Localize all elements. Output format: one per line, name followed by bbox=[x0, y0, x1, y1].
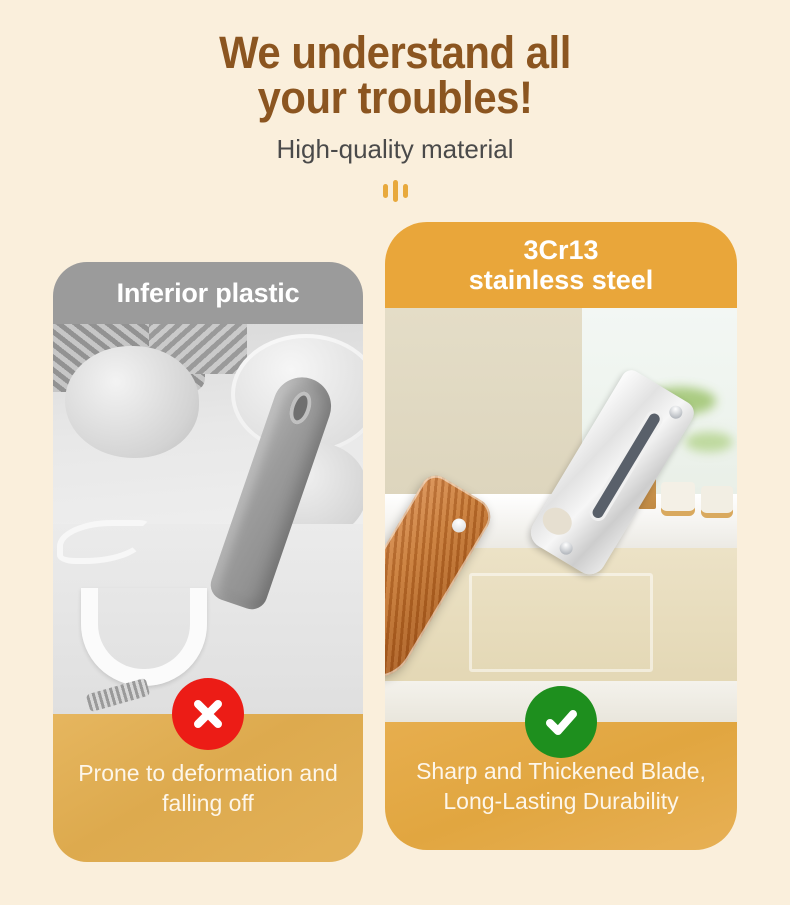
divider-bar-right bbox=[403, 184, 408, 198]
page-subtitle: High-quality material bbox=[0, 134, 790, 164]
stainless-card-caption: Sharp and Thickened Blade, Long-Lasting … bbox=[385, 756, 737, 816]
blade-cutting-slot bbox=[591, 412, 662, 521]
stainless-card-header: 3Cr13 stainless steel bbox=[385, 222, 737, 308]
stainless-product-photo bbox=[385, 308, 737, 722]
page-title: We understand all your troubles! bbox=[28, 30, 763, 120]
cross-icon bbox=[172, 678, 244, 750]
comparison-card-stainless: 3Cr13 stainless steel bbox=[385, 222, 737, 850]
inferior-card-header-label: Inferior plastic bbox=[117, 278, 300, 309]
inferior-card-header: Inferior plastic bbox=[53, 262, 363, 324]
inferior-card-footer: Prone to deformation and falling off bbox=[53, 714, 363, 862]
blade-rivet-top bbox=[667, 403, 685, 421]
handle-rivet-top bbox=[449, 516, 468, 535]
headline-line-1: We understand all bbox=[219, 27, 571, 78]
blade-rivet-bottom bbox=[557, 539, 575, 557]
bottle-opener-notch bbox=[538, 502, 577, 540]
comparison-card-inferior: Inferior plastic Pro bbox=[53, 262, 363, 862]
stainless-card-header-line-1: 3Cr13 bbox=[523, 235, 598, 265]
headline-line-2: your troubles! bbox=[28, 75, 763, 120]
stainless-card-header-line-2: stainless steel bbox=[469, 265, 654, 295]
divider-bar-left bbox=[383, 184, 388, 198]
stainless-peeler bbox=[407, 344, 657, 704]
storage-jar-2 bbox=[701, 486, 733, 518]
handle-hanging-hole bbox=[285, 389, 315, 428]
divider-bars-icon bbox=[375, 180, 415, 202]
peeler-yoke-arm bbox=[81, 588, 207, 686]
divider-bar-center bbox=[393, 180, 398, 202]
inferior-card-caption: Prone to deformation and falling off bbox=[53, 758, 363, 818]
storage-jar-1 bbox=[661, 482, 695, 516]
stainless-card-footer: Sharp and Thickened Blade, Long-Lasting … bbox=[385, 722, 737, 850]
page-header: We understand all your troubles! High-qu… bbox=[0, 0, 790, 202]
inferior-product-photo bbox=[53, 324, 363, 714]
comparison-cards: Inferior plastic Pro bbox=[0, 222, 790, 882]
potato-left bbox=[65, 346, 199, 458]
check-icon bbox=[525, 686, 597, 758]
